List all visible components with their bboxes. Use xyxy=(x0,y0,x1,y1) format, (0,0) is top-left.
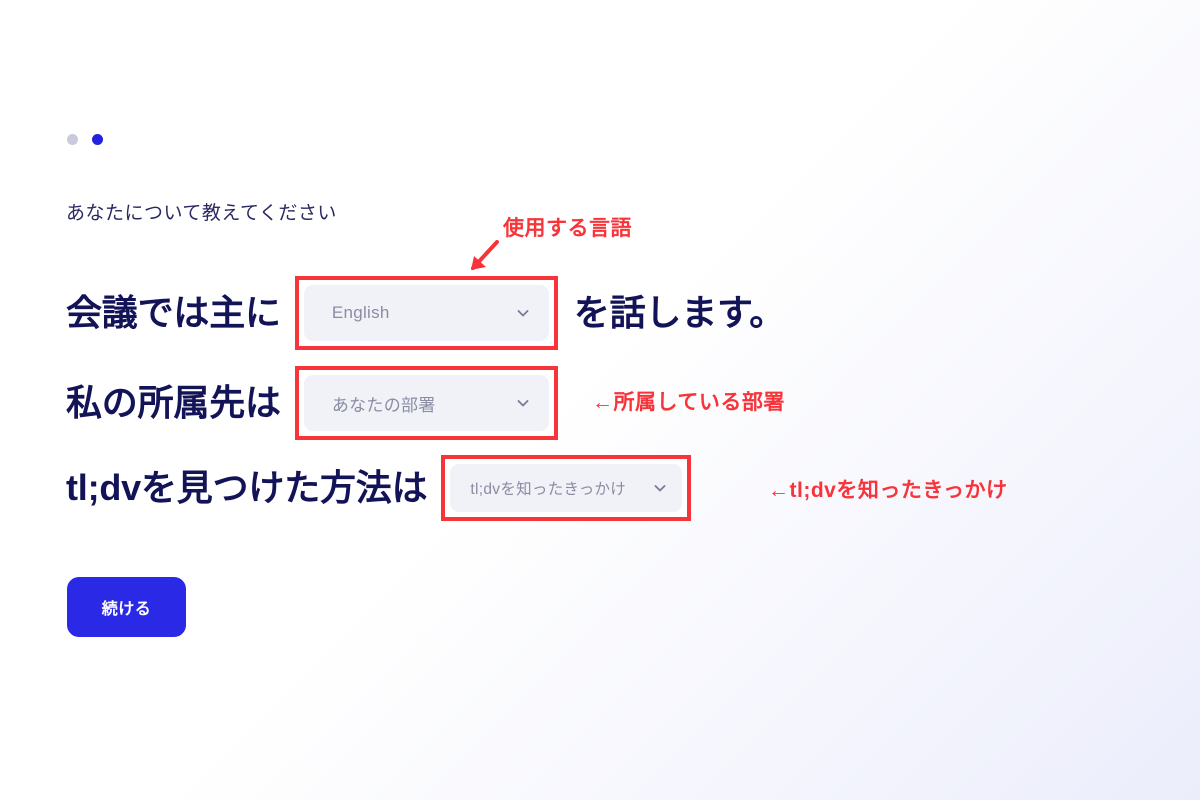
chevron-down-icon xyxy=(515,305,531,321)
highlight-box-language: English xyxy=(295,276,558,350)
annotation-department-label: ←所属している部署 xyxy=(592,386,785,416)
annotation-referral-source-label: ←tl;dvを知ったきっかけ xyxy=(768,474,1008,504)
continue-button[interactable]: 続ける xyxy=(67,577,186,637)
referral-source-select-value: tl;dvを知ったきっかけ xyxy=(470,477,626,499)
arrow-down-left-icon xyxy=(463,240,503,278)
progress-dot-1[interactable] xyxy=(67,134,78,145)
row-referral-source-lead-text: tl;dvを見つけた方法は xyxy=(66,470,427,506)
form-row-referral-source: tl;dvを見つけた方法は tl;dvを知ったきっかけ xyxy=(66,455,691,521)
row-language-lead-text: 会議では主に xyxy=(66,295,281,331)
chevron-down-icon xyxy=(515,395,531,411)
form-row-language: 会議では主に English を話します。 xyxy=(66,276,785,350)
highlight-box-department: あなたの部署 xyxy=(295,366,558,440)
page-subtitle: あなたについて教えてください xyxy=(66,198,337,225)
department-select-value: あなたの部署 xyxy=(332,391,436,416)
language-select-value: English xyxy=(332,303,390,323)
onboarding-page: あなたについて教えてください 会議では主に English を話します。 私の所… xyxy=(0,0,1200,800)
chevron-down-icon xyxy=(652,480,668,496)
progress-dot-2[interactable] xyxy=(92,134,103,145)
department-select[interactable]: あなたの部署 xyxy=(304,375,549,431)
annotation-language-label: 使用する言語 xyxy=(503,212,632,242)
row-department-lead-text: 私の所属先は xyxy=(66,385,281,421)
highlight-box-referral-source: tl;dvを知ったきっかけ xyxy=(441,455,691,521)
progress-indicator xyxy=(67,134,103,145)
form-row-department: 私の所属先は あなたの部署 xyxy=(66,366,558,440)
referral-source-select[interactable]: tl;dvを知ったきっかけ xyxy=(450,464,682,512)
language-select[interactable]: English xyxy=(304,285,549,341)
row-language-trail-text: を話します。 xyxy=(574,295,785,331)
